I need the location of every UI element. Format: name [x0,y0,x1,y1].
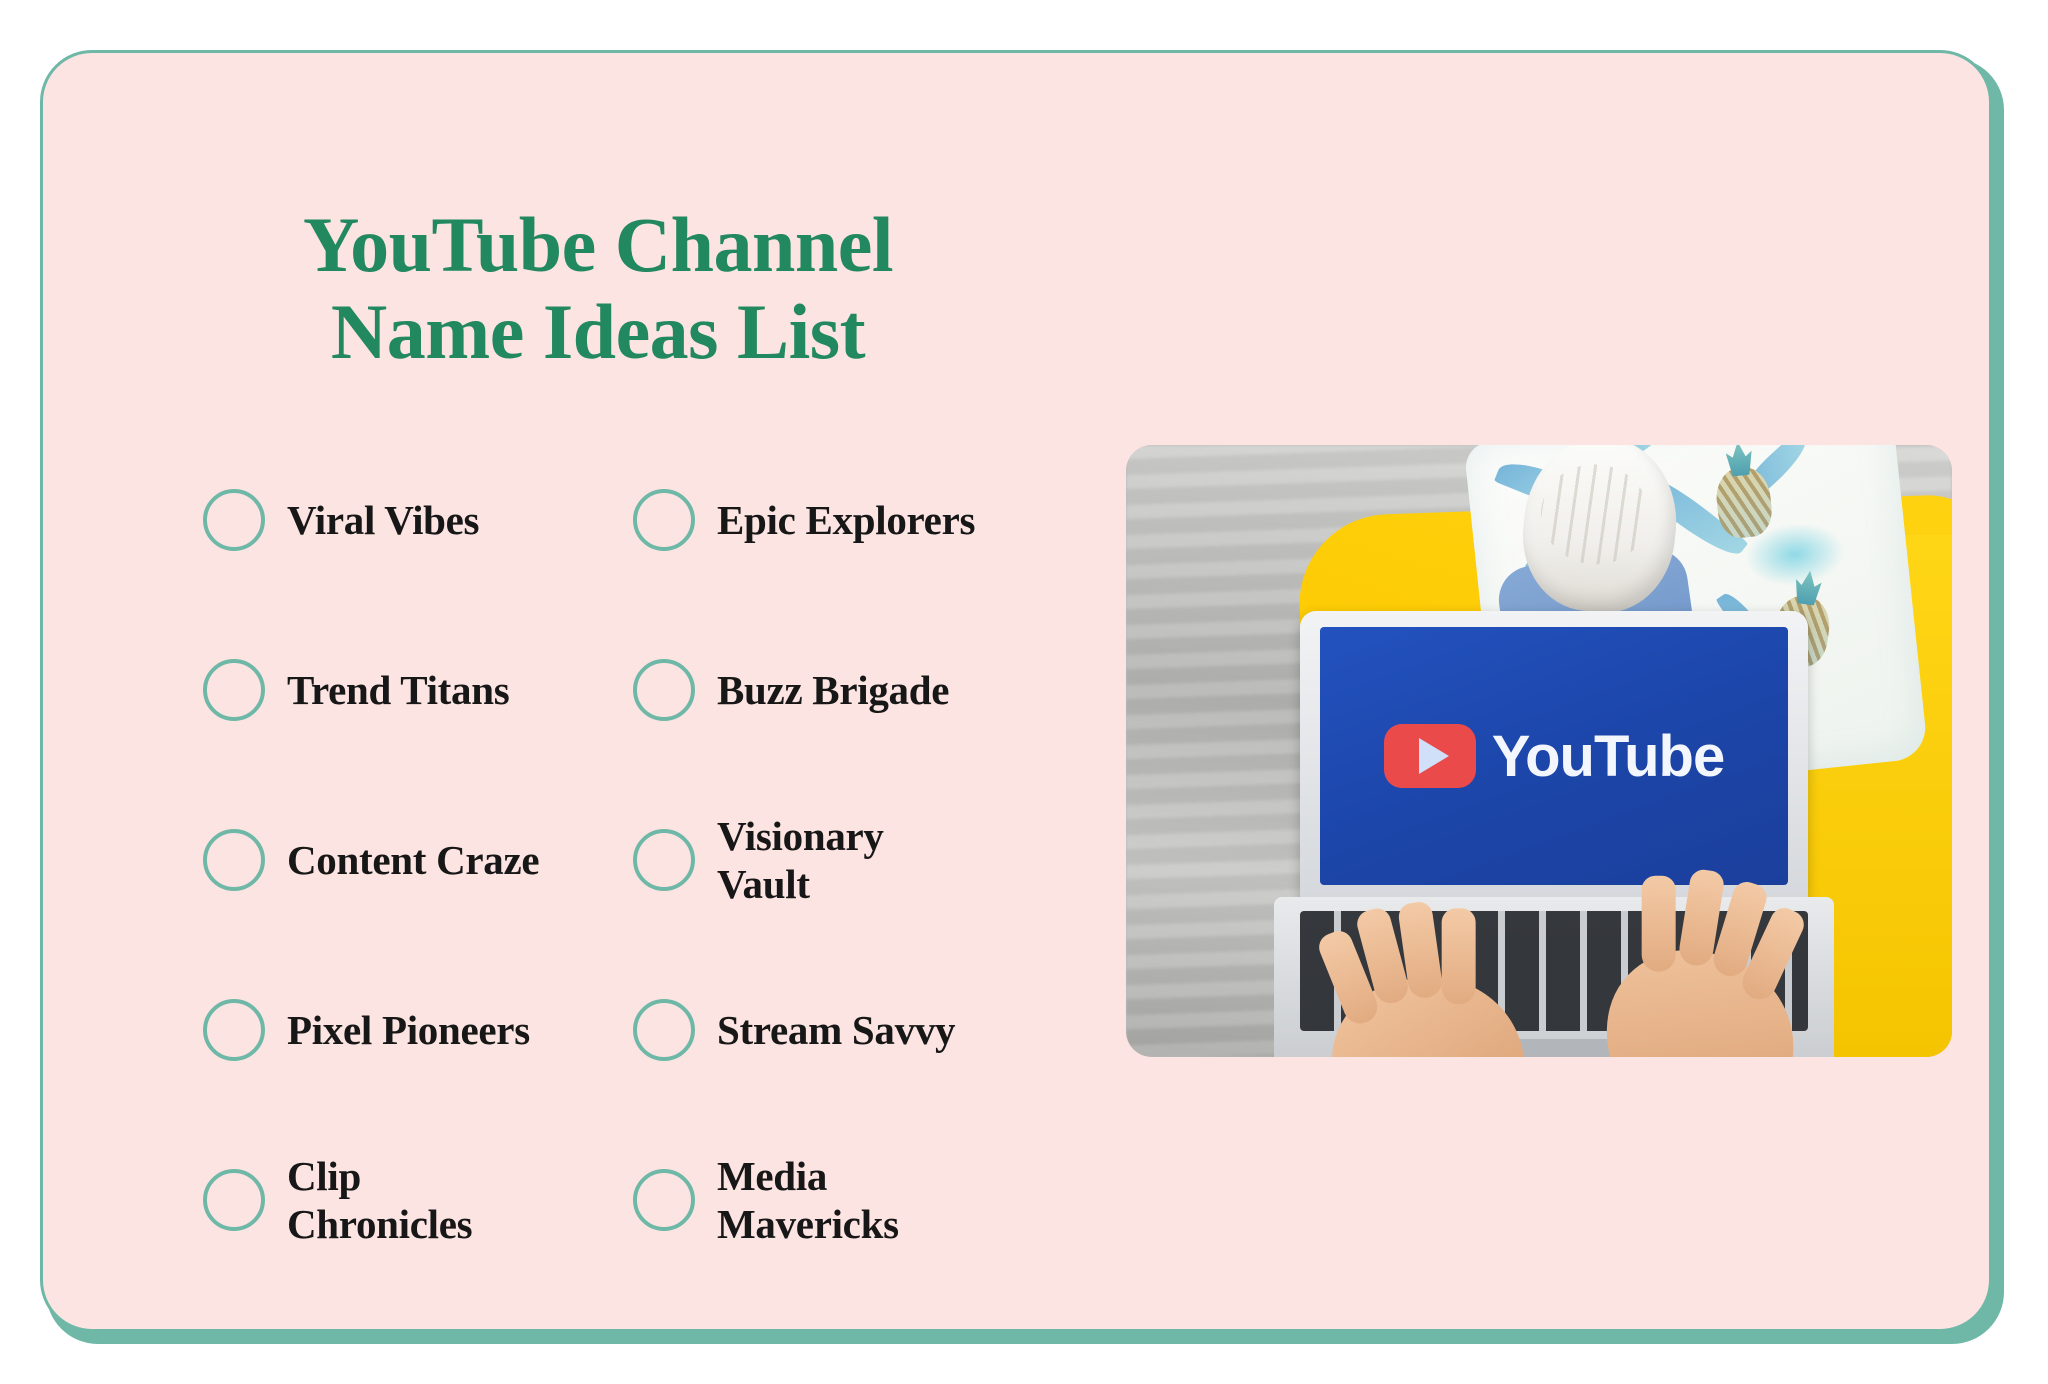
checklist-row: Pixel Pioneers Stream Savvy [203,975,1063,1145]
checklist-item-label: Stream Savvy [717,1006,955,1054]
laptop-screen: YouTube [1320,627,1788,885]
checklist-row: Viral Vibes Epic Explorers [203,465,1063,635]
checklist-item[interactable]: Clip Chronicles [203,1145,633,1255]
checklist-item[interactable]: Buzz Brigade [633,635,1063,745]
checklist-item-label: Epic Explorers [717,496,975,544]
checkbox-circle-icon[interactable] [633,999,695,1061]
checklist-item-label: Pixel Pioneers [287,1006,530,1054]
checklist-row: Content Craze Visionary Vault [203,805,1063,975]
page-title-line-2: Name Ideas List [218,288,978,375]
checkbox-circle-icon[interactable] [633,829,695,891]
checklist-row: Trend Titans Buzz Brigade [203,635,1063,805]
checklist-item[interactable]: Media Mavericks [633,1145,1063,1255]
laptop-lid: YouTube [1300,611,1808,901]
youtube-wordmark: YouTube [1492,723,1724,790]
checkbox-circle-icon[interactable] [633,1169,695,1231]
laptop-photo: YouTube [1126,445,1952,1057]
checkbox-circle-icon[interactable] [203,1169,265,1231]
checklist-item-label: Clip Chronicles [287,1152,517,1249]
checkbox-circle-icon[interactable] [203,829,265,891]
page-title-line-1: YouTube Channel [218,201,978,288]
checklist-item-label: Media Mavericks [717,1152,952,1249]
checklist-item-label: Viral Vibes [287,496,479,544]
checkbox-circle-icon[interactable] [633,489,695,551]
channel-name-checklist: Viral Vibes Epic Explorers Trend Titans … [203,465,1063,1315]
checkbox-circle-icon[interactable] [633,659,695,721]
checklist-item[interactable]: Content Craze [203,805,633,915]
checklist-item[interactable]: Stream Savvy [633,975,1063,1085]
checklist-row: Clip Chronicles Media Mavericks [203,1145,1063,1315]
checklist-item[interactable]: Visionary Vault [633,805,1063,915]
checklist-item[interactable]: Epic Explorers [633,465,1063,575]
page-title: YouTube Channel Name Ideas List [218,201,978,376]
checklist-item[interactable]: Trend Titans [203,635,633,745]
poster-card: YouTube Channel Name Ideas List Viral Vi… [40,50,1992,1332]
checklist-item-label: Visionary Vault [717,812,937,909]
checkbox-circle-icon[interactable] [203,489,265,551]
youtube-play-icon [1384,724,1476,788]
checklist-item[interactable]: Viral Vibes [203,465,633,575]
checklist-item-label: Trend Titans [287,666,509,714]
checkbox-circle-icon[interactable] [203,659,265,721]
checklist-item[interactable]: Pixel Pioneers [203,975,633,1085]
checklist-item-label: Buzz Brigade [717,666,949,714]
laptop: YouTube [1274,611,1834,1057]
checkbox-circle-icon[interactable] [203,999,265,1061]
checklist-item-label: Content Craze [287,836,539,884]
